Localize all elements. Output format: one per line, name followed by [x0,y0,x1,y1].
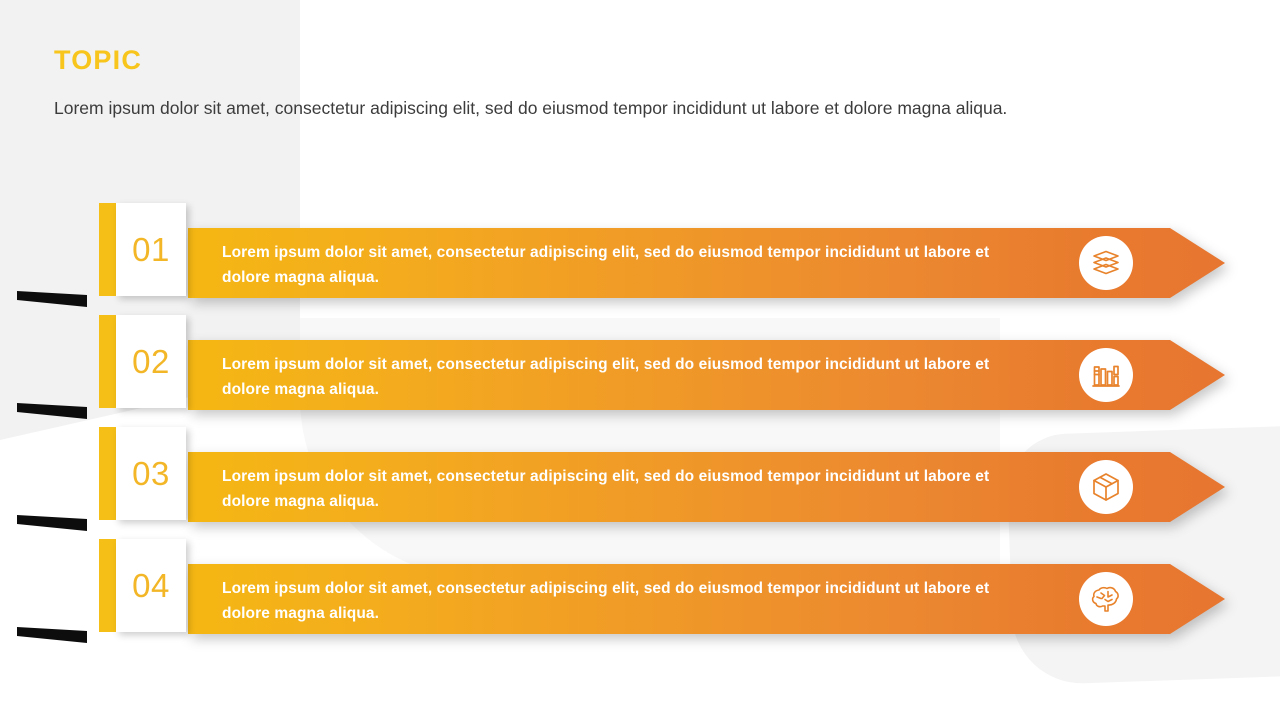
row-fold-shadow [17,403,87,419]
row-number-card: 01 [116,203,186,296]
row-accent-bar [99,539,116,632]
row-number-label: 02 [132,345,170,378]
row-number-card: 02 [116,315,186,408]
row-number-label: 01 [132,233,170,266]
row-number-card: 03 [116,427,186,520]
row-arrow-banner[interactable]: Lorem ipsum dolor sit amet, consectetur … [188,452,1225,522]
row-description: Lorem ipsum dolor sit amet, consectetur … [222,464,1022,514]
row-accent-bar [99,203,116,296]
infographic-row[interactable]: 01 Lorem ipsum dolor sit amet, consectet… [0,203,1280,315]
row-description: Lorem ipsum dolor sit amet, consectetur … [222,240,1022,290]
row-accent-bar [99,427,116,520]
row-arrow-banner[interactable]: Lorem ipsum dolor sit amet, consectetur … [188,228,1225,298]
row-arrow-banner[interactable]: Lorem ipsum dolor sit amet, consectetur … [188,340,1225,410]
brain-icon [1079,572,1133,626]
row-number-block: 04 [99,539,186,632]
row-description: Lorem ipsum dolor sit amet, consectetur … [222,352,1022,402]
row-description: Lorem ipsum dolor sit amet, consectetur … [222,576,1022,626]
row-number-block: 01 [99,203,186,296]
infographic-row[interactable]: 02 Lorem ipsum dolor sit amet, consectet… [0,315,1280,427]
page-subtitle: Lorem ipsum dolor sit amet, consectetur … [54,94,1194,122]
row-arrow-banner[interactable]: Lorem ipsum dolor sit amet, consectetur … [188,564,1225,634]
infographic-rows: 01 Lorem ipsum dolor sit amet, consectet… [0,203,1280,651]
row-fold-shadow [17,291,87,307]
bookshelf-icon [1079,348,1133,402]
infographic-row[interactable]: 04 Lorem ipsum dolor sit amet, consectet… [0,539,1280,651]
row-accent-bar [99,315,116,408]
row-number-card: 04 [116,539,186,632]
row-number-block: 02 [99,315,186,408]
stacked-books-icon [1079,236,1133,290]
infographic-row[interactable]: 03 Lorem ipsum dolor sit amet, consectet… [0,427,1280,539]
row-fold-shadow [17,515,87,531]
row-fold-shadow [17,627,87,643]
page-title: TOPIC [54,46,1204,76]
row-number-label: 03 [132,457,170,490]
row-number-label: 04 [132,569,170,602]
row-number-block: 03 [99,427,186,520]
package-box-icon [1079,460,1133,514]
header: TOPIC Lorem ipsum dolor sit amet, consec… [54,46,1204,122]
